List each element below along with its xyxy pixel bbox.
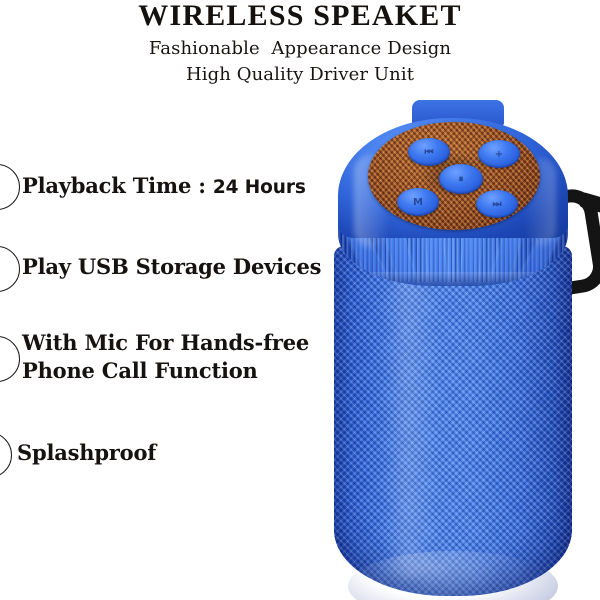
bullet-circle-icon [0,246,20,292]
volume-up-icon: + [478,140,520,168]
next-track-button[interactable]: ⏭ [476,190,518,218]
feature-label-text: Playback Time : [22,173,213,198]
previous-track-button[interactable]: ⏮ [408,138,450,166]
body-highlight [382,248,438,578]
page-title: WIRELESS SPEAKET [0,0,600,33]
volume-up-button[interactable]: + [478,140,520,168]
subtitle-line-2: High Quality Driver Unit [0,64,600,85]
next-track-icon: ⏭ [476,190,518,218]
mode-icon: M [397,188,439,216]
speaker-mesh-body [334,246,572,596]
collar-lip [338,272,568,286]
subtitle-line-1: Fashionable Appearance Design [0,38,600,59]
bullet-circle-icon [0,336,20,382]
bullet-circle-icon [0,164,20,210]
feature-label-splashproof: Splashproof [17,439,156,467]
previous-track-icon: ⏮ [408,138,450,166]
feature-label-hands-free-line-1: With Mic For Hands-free [22,329,309,357]
feature-label-hands-free-line-2: Phone Call Function [22,357,258,385]
feature-value-text: 24 Hours [213,177,306,198]
feature-label-playback-time: Playback Time : 24 Hours [22,172,306,202]
mode-button[interactable]: M [397,188,439,216]
bullet-circle-icon [0,432,12,478]
product-speaker-image: ⏮ + ⏸ M ⏭ [330,96,600,600]
product-feature-image: WIRELESS SPEAKET Fashionable Appearance … [0,0,600,600]
feature-label-usb-storage: Play USB Storage Devices [22,253,321,281]
